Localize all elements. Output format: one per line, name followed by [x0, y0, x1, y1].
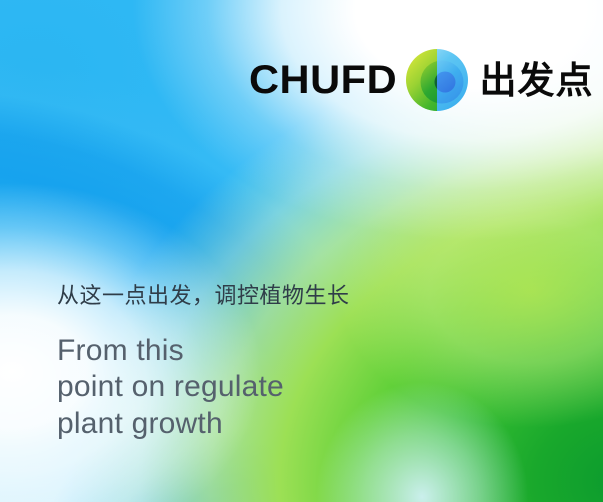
tagline-english: From this point on regulate plant growth	[57, 333, 477, 444]
chufd-circle-mark	[405, 44, 469, 116]
tagline-chinese: 从这一点出发，调控植物生长	[57, 283, 477, 311]
logo-lockup: CHUFD	[249, 44, 593, 116]
chufd-chinese-brand: 出发点	[479, 62, 593, 99]
chufd-wordmark: CHUFD	[249, 60, 397, 100]
tagline-english-line-2: point on regulate	[57, 369, 477, 406]
tagline-block: 从这一点出发，调控植物生长 From this point on regulat…	[57, 283, 477, 443]
brand-banner: CHUFD	[0, 0, 603, 502]
tagline-english-line-3: plant growth	[57, 406, 477, 443]
tagline-english-line-1: From this	[57, 333, 477, 370]
